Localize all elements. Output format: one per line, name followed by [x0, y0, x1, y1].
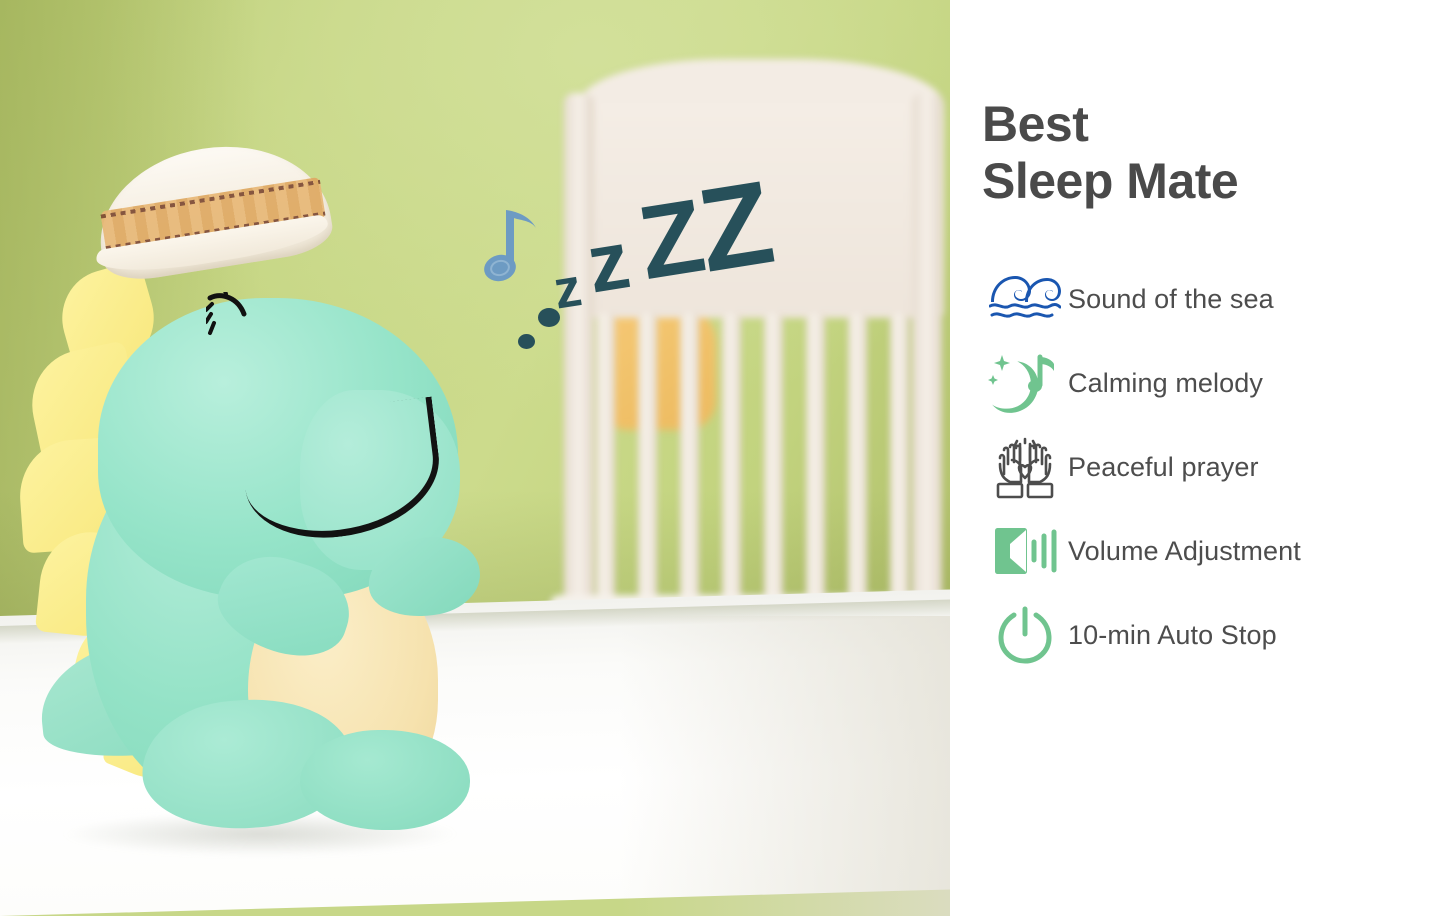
- feature-label: Volume Adjustment: [1068, 536, 1301, 567]
- feature-item-auto-stop: 10-min Auto Stop: [982, 593, 1445, 677]
- feature-label: Calming melody: [1068, 368, 1263, 399]
- table-shadow: [620, 616, 950, 916]
- feature-list: Sound of the sea Calming melody: [982, 257, 1445, 677]
- product-photo: z z Z Z: [0, 0, 950, 916]
- product-feature-banner: z z Z Z Best Sleep Mate Sound of the sea: [0, 0, 1445, 916]
- plush-closed-eye: [206, 292, 250, 344]
- sleep-zzz-graphic: z z Z Z: [480, 180, 770, 360]
- crib-post-left: [564, 93, 594, 653]
- feature-item-peaceful-prayer: Peaceful prayer: [982, 425, 1445, 509]
- dinosaur-plush-toy: [0, 140, 520, 840]
- page-title: Best Sleep Mate: [982, 96, 1445, 209]
- feature-item-calming-melody: Calming melody: [982, 341, 1445, 425]
- wave-icon: [982, 274, 1068, 324]
- speaker-volume-icon: [982, 524, 1068, 578]
- crib-post-right: [912, 93, 942, 653]
- feature-list-panel: Best Sleep Mate Sound of the sea: [950, 0, 1445, 916]
- praying-hands-icon: [982, 434, 1068, 500]
- music-note-icon: [484, 198, 546, 295]
- feature-label: Sound of the sea: [1068, 284, 1274, 315]
- moon-music-icon: [982, 351, 1068, 415]
- plush-foot-back: [300, 730, 470, 830]
- feature-item-sound-of-the-sea: Sound of the sea: [982, 257, 1445, 341]
- feature-label: 10-min Auto Stop: [1068, 620, 1277, 651]
- feature-label: Peaceful prayer: [1068, 452, 1259, 483]
- feature-item-volume-adjustment: Volume Adjustment: [982, 509, 1445, 593]
- power-button-icon: [982, 604, 1068, 666]
